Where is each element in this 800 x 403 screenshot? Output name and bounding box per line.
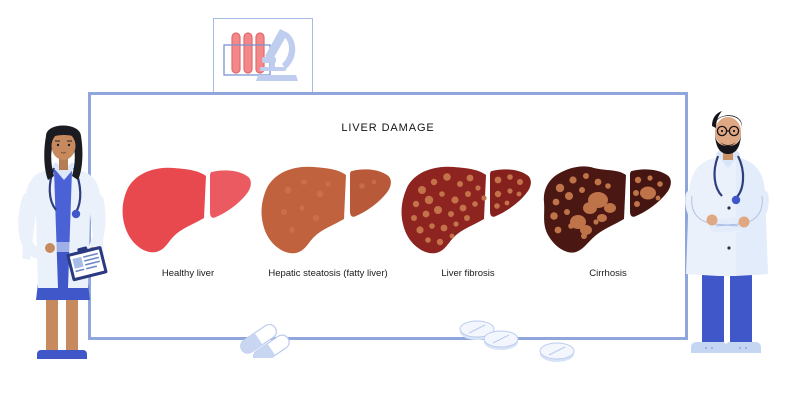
- coat-button: [727, 246, 730, 249]
- eye-left: [57, 144, 59, 146]
- face: [52, 132, 76, 160]
- liver-healthy-icon: [118, 160, 258, 260]
- microscope-icon: [214, 19, 311, 92]
- hand-left: [45, 243, 55, 253]
- hand-right: [739, 217, 750, 228]
- liver-stage-healthy: Healthy liver: [118, 160, 258, 290]
- tablets-icon: [455, 316, 585, 368]
- tablet-2: [484, 331, 518, 350]
- shoe-right: [59, 350, 87, 359]
- eye-left: [721, 130, 723, 132]
- page-title: LIVER DAMAGE: [88, 122, 688, 134]
- male-doctor: [672, 104, 782, 366]
- capsule-group: [232, 318, 302, 358]
- shoe-right: [725, 342, 761, 353]
- eye-right: [733, 130, 735, 132]
- coat-button: [727, 206, 730, 209]
- illustration-canvas: LIVER DAMAGE Healthy liver Hepatic steat…: [0, 0, 800, 403]
- liver-steatosis-icon: [258, 160, 398, 260]
- liver-cirrhosis-icon: [538, 160, 678, 260]
- liver-stage-cirrhosis: Cirrhosis: [538, 160, 678, 290]
- male-doctor-figure: [672, 104, 782, 366]
- liver-stage-steatosis: Hepatic steatosis (fatty liver): [258, 160, 398, 290]
- tablet-group: [455, 316, 585, 368]
- stethoscope-chestpiece: [72, 210, 80, 218]
- tablet-3: [540, 343, 574, 362]
- leg-right: [66, 296, 78, 350]
- leg-left: [46, 296, 58, 350]
- face: [715, 117, 741, 147]
- shoe-left: [691, 342, 727, 353]
- arm-right: [94, 200, 100, 248]
- liver-stage-fibrosis: Liver fibrosis: [398, 160, 538, 290]
- stethoscope-chestpiece: [732, 196, 740, 204]
- lab-icon-box: [213, 18, 313, 94]
- liver-caption: Cirrhosis: [518, 268, 698, 279]
- test-tube-group: [232, 33, 264, 73]
- hand-left: [707, 215, 718, 226]
- female-doctor: [8, 118, 118, 368]
- capsules-icon: [232, 318, 302, 358]
- liver-fibrosis-icon: [398, 160, 538, 260]
- eye-right: [68, 144, 70, 146]
- female-doctor-figure: [8, 118, 118, 368]
